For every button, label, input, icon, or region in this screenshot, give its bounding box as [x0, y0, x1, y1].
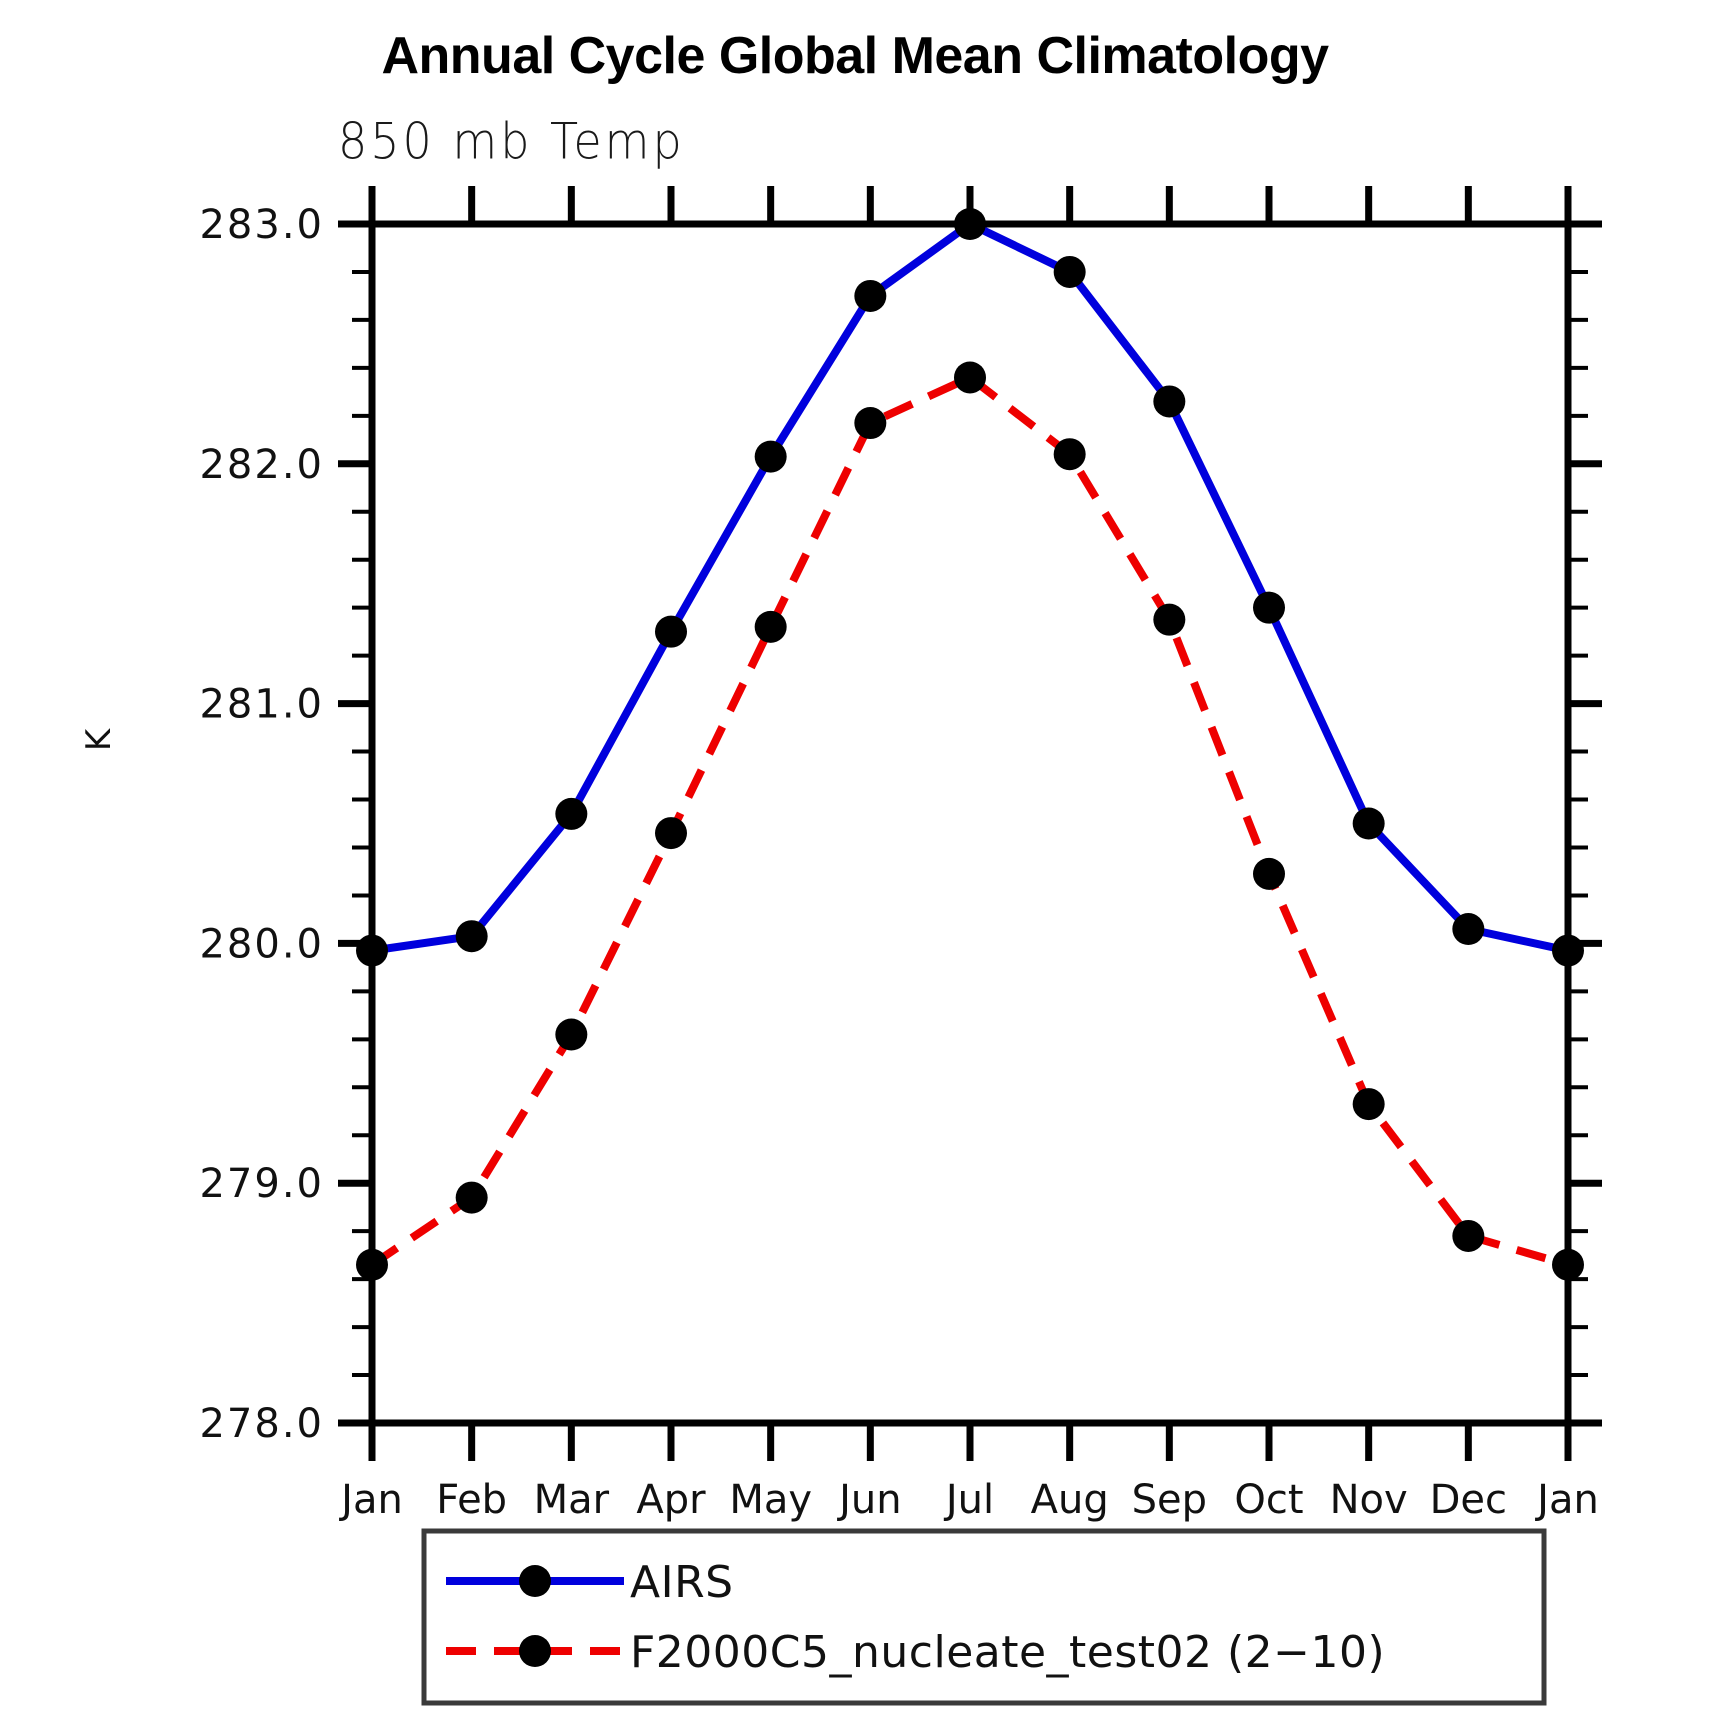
data-point [1253, 592, 1285, 624]
x-tick-label: Jul [943, 1477, 994, 1523]
y-axis-tick-labels: 283.0282.0281.0280.0279.0278.0 [199, 202, 324, 1447]
data-point [854, 407, 886, 439]
data-point [555, 798, 587, 830]
y-tick-label: 281.0 [199, 682, 324, 728]
legend-label-1[interactable]: F2000C5_nucleate_test02 (2−10) [630, 1627, 1385, 1678]
x-tick-label: May [729, 1477, 812, 1523]
y-tick-label: 279.0 [199, 1161, 324, 1207]
y-tick-label: 282.0 [199, 442, 324, 488]
chart-page: Annual Cycle Global Mean Climatology 850… [0, 0, 1710, 1729]
x-tick-label: Feb [436, 1477, 507, 1523]
data-point [356, 935, 388, 967]
data-point [854, 280, 886, 312]
data-point [1253, 858, 1285, 890]
data-point [655, 817, 687, 849]
y-axis-title: K [79, 729, 119, 751]
data-marker-group [356, 208, 1584, 1281]
data-point [655, 616, 687, 648]
x-axis-tick-labels: JanFebMarAprMayJunJulAugSepOctNovDecJan [338, 1477, 1599, 1523]
y-axis-title-wrap: K [88, 720, 110, 760]
legend-marker-0 [519, 1565, 551, 1597]
data-point [1054, 438, 1086, 470]
data-point [1153, 385, 1185, 417]
series-line-1 [372, 377, 1568, 1264]
line-chart: 283.0282.0281.0280.0279.0278.0 JanFebMar… [0, 0, 1710, 1729]
data-point [954, 361, 986, 393]
data-point [1353, 1088, 1385, 1120]
data-point [1552, 1249, 1584, 1281]
x-tick-label: Jan [1534, 1477, 1599, 1523]
data-point [456, 1182, 488, 1214]
series-line-0 [372, 224, 1568, 951]
plot-frame [372, 224, 1568, 1423]
x-tick-label: Mar [534, 1477, 610, 1523]
data-point [555, 1019, 587, 1051]
data-point [1552, 935, 1584, 967]
x-tick-label: Sep [1132, 1477, 1207, 1523]
y-tick-label: 278.0 [199, 1401, 324, 1447]
data-point [456, 920, 488, 952]
legend: AIRSF2000C5_nucleate_test02 (2−10) [424, 1531, 1544, 1703]
plot-border [372, 224, 1568, 1423]
y-tick-label: 283.0 [199, 202, 324, 248]
data-point [954, 208, 986, 240]
x-tick-label: Nov [1330, 1477, 1408, 1523]
x-tick-label: Dec [1430, 1477, 1507, 1523]
data-point [755, 441, 787, 473]
x-tick-label: Jan [338, 1477, 403, 1523]
data-point [1353, 808, 1385, 840]
data-point [1054, 256, 1086, 288]
data-point [1153, 604, 1185, 636]
x-tick-label: Jun [836, 1477, 902, 1523]
data-point [755, 611, 787, 643]
data-point [356, 1249, 388, 1281]
x-tick-label: Aug [1031, 1477, 1109, 1523]
legend-marker-1 [519, 1635, 551, 1667]
x-tick-label: Oct [1234, 1477, 1303, 1523]
x-tick-label: Apr [636, 1477, 706, 1523]
data-point [1452, 1220, 1484, 1252]
data-point [1452, 913, 1484, 945]
legend-label-0[interactable]: AIRS [630, 1557, 734, 1608]
y-tick-label: 280.0 [199, 921, 324, 967]
